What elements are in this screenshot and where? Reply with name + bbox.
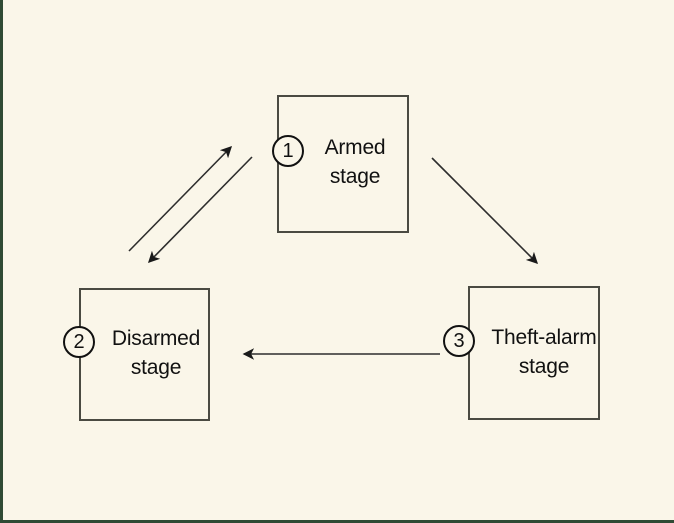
arrow-layer bbox=[3, 0, 674, 523]
diagram-canvas: Armed stage 1 Disarmed stage 2 Theft-ala… bbox=[0, 0, 674, 523]
state-number-badge-theft-alarm: 3 bbox=[443, 325, 475, 357]
state-number-badge-disarmed: 2 bbox=[63, 326, 95, 358]
arrow-disarmed-to-armed bbox=[129, 147, 231, 251]
state-number-badge-armed: 1 bbox=[272, 135, 304, 167]
arrow-armed-to-disarmed bbox=[149, 157, 252, 262]
arrow-armed-to-theft-alarm bbox=[432, 158, 537, 263]
state-box-disarmed[interactable] bbox=[79, 288, 210, 421]
state-box-theft-alarm[interactable] bbox=[468, 286, 600, 420]
